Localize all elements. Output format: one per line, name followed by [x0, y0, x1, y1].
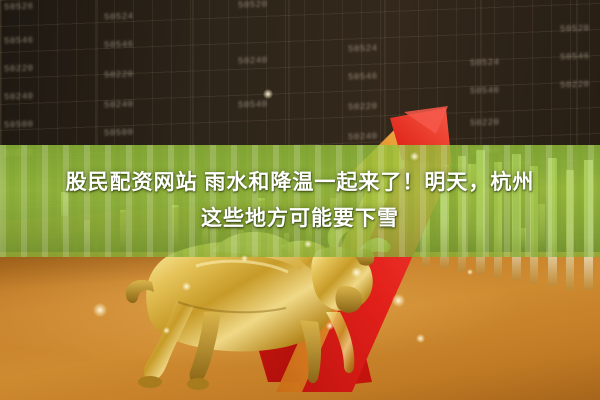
headline-text: 股民配资网站 雨水和降温一起来了！明天，杭州 这些地方可能要下雪 [0, 165, 600, 237]
bokeh-particle [182, 282, 191, 291]
bokeh-particle [304, 240, 312, 248]
bokeh-particle [410, 152, 419, 161]
bokeh-particle [467, 269, 473, 275]
news-thumbnail-image: 5052650546502205024050500505705052450546… [0, 0, 600, 400]
bokeh-particle [326, 322, 334, 330]
headline-line-2: 这些地方可能要下雪 [0, 201, 600, 237]
bokeh-particle [93, 303, 107, 317]
bokeh-particle [263, 89, 273, 99]
bokeh-particle [241, 255, 248, 262]
bokeh-particle [163, 327, 170, 334]
bokeh-particle [392, 294, 405, 307]
bokeh-particle [416, 334, 425, 343]
bokeh-particle [351, 267, 362, 278]
headline-line-1: 股民配资网站 雨水和降温一起来了！明天，杭州 [0, 165, 600, 201]
